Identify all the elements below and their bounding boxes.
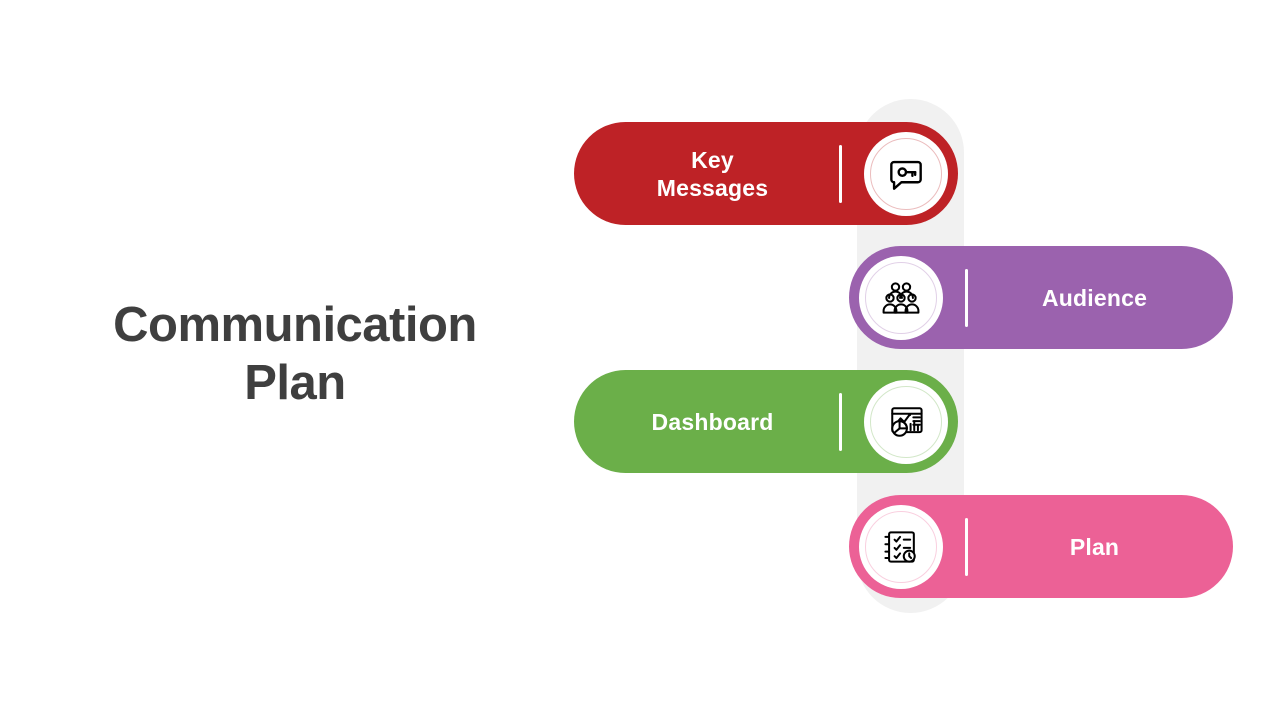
item-icon-circle-dashboard[interactable]: [864, 380, 948, 464]
item-plan[interactable]: Plan: [849, 495, 1233, 598]
slide-canvas: Communication Plan Key Messages: [0, 0, 1280, 720]
page-title: Communication Plan: [60, 296, 530, 412]
item-icon-circle-key-messages[interactable]: [864, 132, 948, 216]
item-icon-circle-audience[interactable]: [859, 256, 943, 340]
item-label-key-messages: Key Messages: [574, 146, 839, 202]
people-group-icon: [879, 276, 923, 320]
speech-bubble-key-icon: [884, 152, 928, 196]
item-divider: [839, 145, 842, 203]
checklist-clock-icon: [879, 525, 923, 569]
item-icon-circle-plan[interactable]: [859, 505, 943, 589]
item-dashboard[interactable]: Dashboard: [574, 370, 958, 473]
dashboard-analytics-icon: [884, 400, 928, 444]
item-label-audience: Audience: [968, 284, 1233, 312]
item-key-messages[interactable]: Key Messages: [574, 122, 958, 225]
item-divider: [839, 393, 842, 451]
item-label-dashboard: Dashboard: [574, 408, 839, 436]
item-audience[interactable]: Audience: [849, 246, 1233, 349]
item-label-plan: Plan: [968, 533, 1233, 561]
